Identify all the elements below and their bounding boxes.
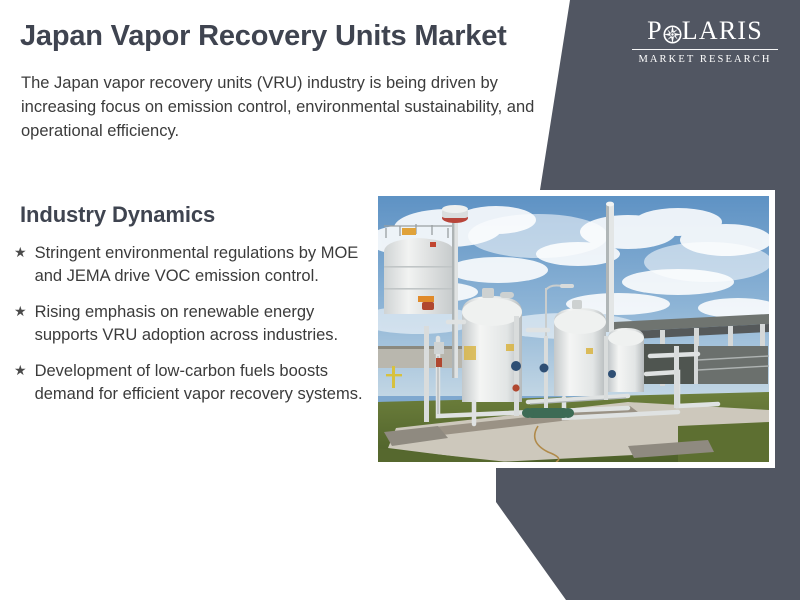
- star-bullet-icon: ★: [14, 242, 27, 263]
- star-bullet-icon: ★: [14, 360, 27, 381]
- list-item-text: Development of low-carbon fuels boosts d…: [35, 360, 374, 407]
- photo-frame: [372, 190, 775, 468]
- industry-dynamics-list: ★ Stringent environmental regulations by…: [14, 242, 374, 419]
- list-item: ★ Stringent environmental regulations by…: [14, 242, 374, 289]
- polaris-logo: P LARIS MARKET RESEARCH: [632, 18, 778, 65]
- list-item-text: Rising emphasis on renewable energy supp…: [35, 301, 374, 348]
- star-bullet-icon: ★: [14, 301, 27, 322]
- compass-star-icon: [663, 23, 682, 42]
- logo-subtitle: MARKET RESEARCH: [632, 54, 778, 65]
- list-item: ★ Rising emphasis on renewable energy su…: [14, 301, 374, 348]
- list-item: ★ Development of low-carbon fuels boosts…: [14, 360, 374, 407]
- section-heading: Industry Dynamics: [20, 202, 215, 228]
- logo-wordmark-left: P: [647, 18, 663, 44]
- slide-canvas: P LARIS MARKET RESEARCH Japan Vapor Reco…: [0, 0, 800, 600]
- logo-wordmark: P LARIS: [632, 18, 778, 44]
- page-title: Japan Vapor Recovery Units Market: [20, 20, 580, 53]
- vapor-recovery-unit-photo: [378, 196, 769, 462]
- intro-paragraph: The Japan vapor recovery units (VRU) ind…: [21, 72, 541, 143]
- logo-divider: [632, 49, 778, 50]
- logo-wordmark-right: LARIS: [682, 18, 763, 44]
- photo-illustration: [378, 196, 769, 462]
- list-item-text: Stringent environmental regulations by M…: [35, 242, 374, 289]
